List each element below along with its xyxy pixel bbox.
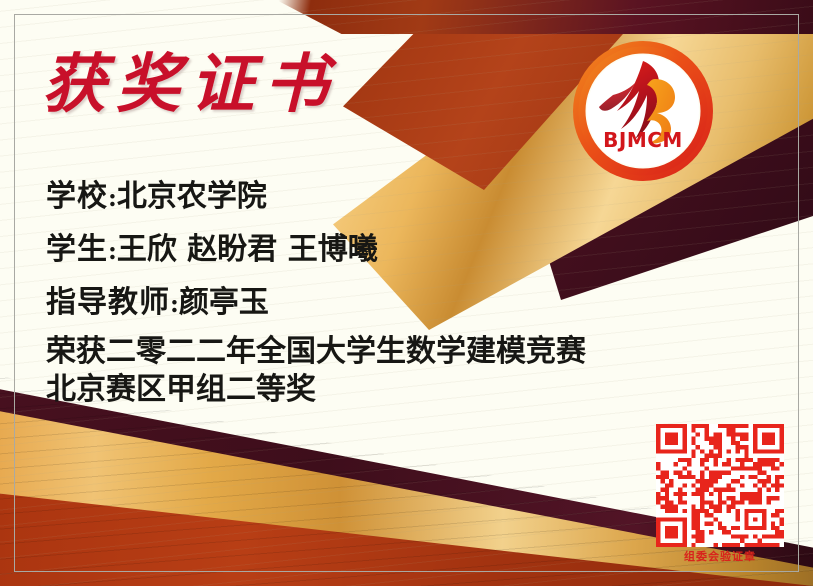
verification-qr-code[interactable] bbox=[656, 424, 784, 547]
field-school-label: 学校 bbox=[46, 179, 108, 214]
certificate-title: 获奖证书 bbox=[42, 33, 338, 125]
field-school-value: 北京农学院 bbox=[117, 179, 267, 214]
field-advisor-separator: : bbox=[170, 289, 179, 318]
award-line-1: 荣获二零二二年全国大学生数学建模竞赛 bbox=[46, 337, 586, 367]
field-students-label: 学生 bbox=[46, 232, 108, 267]
logo-acronym: BJMCM bbox=[603, 128, 683, 152]
certificate-body: 学校:北京农学院 学生:王欣 赵盼君 王博曦 指导教师:颜亭玉 荣获二零二二年全… bbox=[46, 182, 586, 405]
field-advisor: 指导教师:颜亭玉 bbox=[46, 288, 586, 318]
top-edge-band bbox=[0, 0, 813, 34]
field-school: 学校:北京农学院 bbox=[46, 182, 586, 212]
verification-block: 组委会验证章 bbox=[656, 424, 784, 564]
field-advisor-label: 指导教师 bbox=[46, 285, 170, 320]
field-school-separator: : bbox=[108, 183, 117, 212]
bjmcm-logo-svg: 北京市大学生数学建模与计算机应用竞赛 BJMCM bbox=[571, 39, 715, 183]
field-students: 学生:王欣 赵盼君 王博曦 bbox=[46, 235, 586, 265]
bjmcm-logo: 北京市大学生数学建模与计算机应用竞赛 BJMCM bbox=[571, 39, 715, 183]
field-students-separator: : bbox=[108, 236, 117, 265]
award-line-2: 北京赛区甲组二等奖 bbox=[46, 375, 586, 405]
field-advisor-value: 颜亭玉 bbox=[179, 285, 269, 320]
certificate-page: 获奖证书 bbox=[0, 0, 813, 586]
field-students-value: 王欣 赵盼君 王博曦 bbox=[117, 232, 378, 267]
verification-qr-caption: 组委会验证章 bbox=[656, 548, 784, 564]
